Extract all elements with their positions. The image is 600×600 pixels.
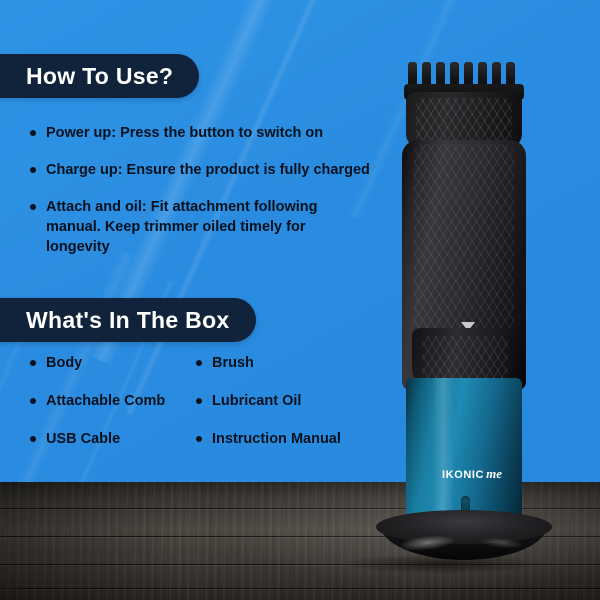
box-item-label: Instruction Manual: [212, 431, 341, 447]
bullet-icon: [30, 360, 36, 366]
whats-in-the-box-heading: What's In The Box: [26, 307, 230, 334]
list-item: USB Cable: [30, 431, 196, 447]
brand-logo: IKONIC me: [426, 466, 518, 482]
box-item-label: Lubricant Oil: [212, 393, 301, 409]
list-item: Power up: Press the button to switch on: [30, 123, 380, 143]
bullet-icon: [30, 436, 36, 442]
step-text: Charge up: Ensure the product is fully c…: [46, 160, 370, 180]
bullet-icon: [30, 398, 36, 404]
box-contents-list: Body Brush Attachable Comb Lubricant Oil…: [30, 355, 390, 447]
base-top: [376, 510, 552, 544]
whats-in-the-box-heading-pill: What's In The Box: [0, 298, 256, 342]
list-item: Brush: [196, 355, 390, 371]
bullet-icon: [196, 360, 202, 366]
how-to-use-heading: How To Use?: [26, 63, 173, 90]
bullet-icon: [30, 167, 36, 173]
bullet-icon: [196, 398, 202, 404]
list-item: Attachable Comb: [30, 393, 196, 409]
bullet-icon: [30, 204, 36, 210]
box-item-label: USB Cable: [46, 431, 120, 447]
list-item: Attach and oil: Fit attachment following…: [30, 197, 380, 257]
charging-base: [376, 510, 552, 568]
bullet-icon: [30, 130, 36, 136]
trimmer-product-image: 5 • 4 • 3 • 2 • 1 IKONIC me: [398, 62, 530, 540]
grip-texture: [414, 144, 514, 334]
trimmer-lower-body: IKONIC me: [406, 378, 522, 522]
list-item: Instruction Manual: [196, 431, 390, 447]
bullet-icon: [196, 436, 202, 442]
product-infographic: How To Use? Power up: Press the button t…: [0, 0, 600, 600]
head-texture: [416, 98, 512, 144]
box-item-label: Brush: [212, 355, 254, 371]
brand-suffix: me: [486, 466, 502, 482]
box-item-label: Attachable Comb: [46, 393, 165, 409]
mid-panel-texture: [422, 336, 508, 382]
list-item: Charge up: Ensure the product is fully c…: [30, 160, 380, 180]
body-highlight: [432, 378, 454, 522]
brand-name: IKONIC: [442, 469, 484, 481]
how-to-use-steps: Power up: Press the button to switch on …: [30, 123, 380, 274]
box-item-label: Body: [46, 355, 82, 371]
step-text: Power up: Press the button to switch on: [46, 123, 323, 143]
list-item: Lubricant Oil: [196, 393, 390, 409]
list-item: Body: [30, 355, 196, 371]
step-text: Attach and oil: Fit attachment following…: [46, 197, 346, 257]
how-to-use-heading-pill: How To Use?: [0, 54, 199, 98]
